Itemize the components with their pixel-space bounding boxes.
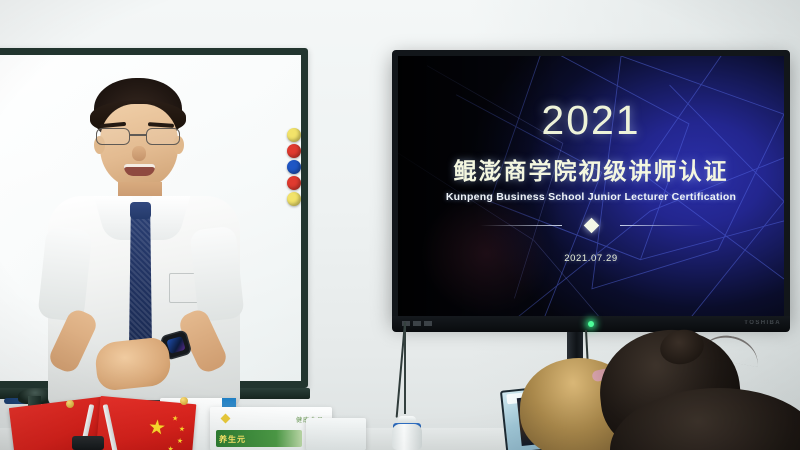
diamond-icon bbox=[583, 218, 599, 234]
presenter-mouth bbox=[124, 164, 155, 176]
flag-finial-right bbox=[180, 397, 188, 405]
flag-stand-group: ★ ★ ★ ★ ★ bbox=[12, 392, 212, 450]
flag-star-small-icon: ★ bbox=[176, 438, 183, 446]
magnet-red[interactable] bbox=[287, 144, 301, 158]
power-led-icon bbox=[588, 321, 594, 327]
bottle-body bbox=[392, 424, 422, 450]
magnet-red[interactable] bbox=[287, 176, 301, 190]
necktie-knot bbox=[130, 202, 151, 219]
flag-base bbox=[72, 436, 104, 450]
slide-content: 2021 鲲澎商学院初级讲师认证 Kunpeng Business School… bbox=[398, 100, 784, 264]
slide-title-cn: 鲲澎商学院初级讲师认证 bbox=[398, 152, 784, 186]
glasses-bridge bbox=[130, 134, 146, 136]
magnet-yellow[interactable] bbox=[287, 192, 301, 206]
magnet-yellow[interactable] bbox=[287, 128, 301, 142]
slide-year: 2021 bbox=[398, 100, 784, 141]
classroom-scene: 2021 鲲澎商学院初级讲师认证 Kunpeng Business School… bbox=[0, 0, 800, 450]
presentation-display[interactable]: 2021 鲲澎商学院初级讲师认证 Kunpeng Business School… bbox=[392, 50, 790, 322]
necktie bbox=[129, 208, 152, 348]
slide-date: 2021.07.29 bbox=[398, 253, 784, 264]
divider-line-left bbox=[480, 225, 562, 226]
flag-star-small-icon: ★ bbox=[167, 445, 174, 450]
slide-divider bbox=[480, 219, 702, 231]
flag-star-large-icon: ★ bbox=[147, 418, 167, 439]
display-ports[interactable] bbox=[402, 321, 432, 326]
glasses-lens-right bbox=[146, 128, 180, 145]
product-box-green-label: 养生元 bbox=[219, 434, 246, 445]
display-bottom-bezel: TOSHIBA bbox=[392, 316, 790, 332]
divider-line-right bbox=[620, 225, 702, 226]
shirt-sleeve-left bbox=[37, 226, 92, 322]
presenter-nose bbox=[132, 146, 146, 161]
box-emblem-icon bbox=[221, 414, 231, 424]
product-box-plain[interactable] bbox=[306, 418, 366, 450]
slide-title-en: Kunpeng Business School Junior Lecturer … bbox=[398, 191, 784, 203]
shirt-sleeve-right bbox=[189, 226, 244, 322]
display-brand-label: TOSHIBA bbox=[744, 320, 781, 326]
glasses-lens-left bbox=[96, 128, 130, 145]
display-screen: 2021 鲲澎商学院初级讲师认证 Kunpeng Business School… bbox=[398, 56, 784, 316]
magnet-blue[interactable] bbox=[287, 160, 301, 174]
glasses-icon bbox=[94, 128, 186, 145]
whiteboard-magnets[interactable] bbox=[287, 128, 303, 208]
flag-star-small-icon: ★ bbox=[178, 426, 185, 434]
water-bottle[interactable] bbox=[390, 412, 424, 450]
power-cord bbox=[404, 322, 406, 414]
flag-finial-left bbox=[66, 400, 74, 408]
flag-star-small-icon: ★ bbox=[172, 415, 179, 423]
